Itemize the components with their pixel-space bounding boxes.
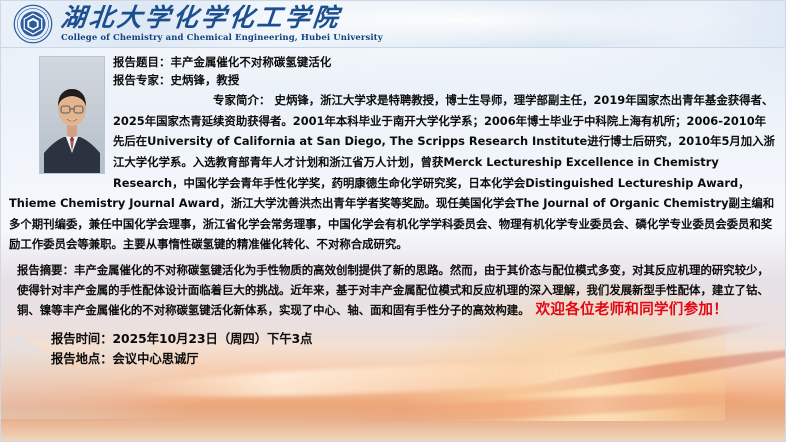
speaker-label: 报告专家： (113, 73, 170, 87)
time-label: 报告时间： (51, 332, 113, 346)
abstract-block: 报告摘要：丰产金属催化的不对称碳氢键活化为手性物质的高效创制提供了新的思路。然而… (9, 259, 777, 320)
speaker-row: 报告专家：史炳锋，教授 (109, 72, 777, 90)
speaker-photo-wrapper (39, 56, 103, 174)
time-value: 2025年10月23日（周四）下午3点 (113, 332, 313, 346)
bio-label-row: 专家简介： (213, 93, 275, 107)
university-crest-icon (13, 4, 53, 44)
welcome-banner: 欢迎各位老师和同学们参加！ (536, 301, 728, 319)
university-title-en: College of Chemistry and Chemical Engine… (61, 33, 383, 43)
seminar-poster: 湖北大学化学化工学院 College of Chemistry and Chem… (0, 0, 786, 442)
topic-value: 丰产金属催化不对称碳氢键活化 (170, 55, 331, 69)
speaker-portrait-photo (39, 56, 105, 174)
abstract-label: 报告摘要： (17, 263, 74, 277)
topic-row: 报告题目：丰产金属催化不对称碳氢键活化 (109, 54, 777, 72)
university-title-cn: 湖北大学化学化工学院 (60, 5, 385, 31)
time-row: 报告时间：2025年10月23日（周四）下午3点 (51, 329, 777, 349)
place-label: 报告地点： (51, 352, 113, 366)
background-cloud-streak (301, 386, 781, 429)
poster-content: 报告题目：丰产金属催化不对称碳氢键活化 报告专家：史炳锋，教授 专家简介： 史炳… (1, 48, 785, 369)
poster-header: 湖北大学化学化工学院 College of Chemistry and Chem… (1, 1, 785, 48)
bio-label: 专家简介： (213, 93, 270, 107)
place-value: 会议中心思诚厅 (113, 352, 199, 366)
speaker-value: 史炳锋，教授 (170, 73, 239, 87)
bio-text: 史炳锋，浙江大学求是特聘教授，博士生导师，理学部副主任，2019年国家杰出青年基… (9, 93, 775, 251)
place-row: 报告地点：会议中心思诚厅 (51, 349, 777, 369)
topic-label: 报告题目： (113, 55, 170, 69)
meta-block: 报告时间：2025年10月23日（周四）下午3点 报告地点：会议中心思诚厅 (9, 329, 777, 369)
